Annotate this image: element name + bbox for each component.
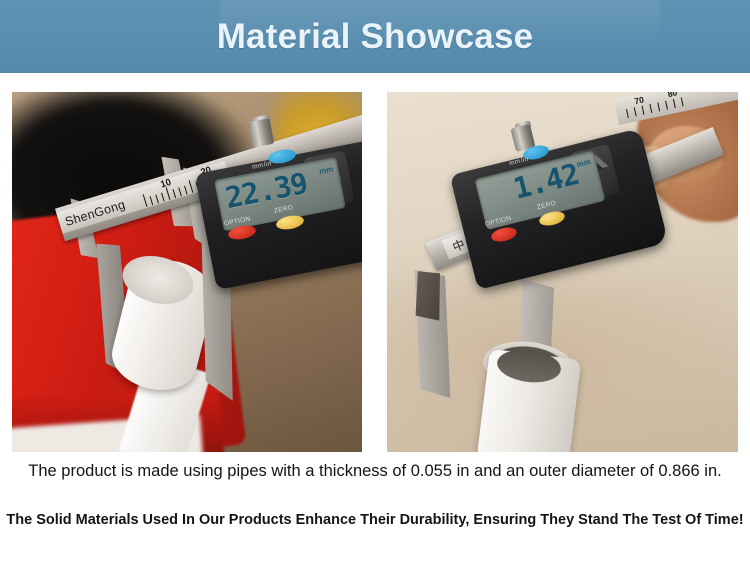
caption-primary: The product is made using pipes with a t… xyxy=(0,462,750,481)
product-photo-left[interactable]: ShenGong 10 20 xyxy=(12,92,362,452)
caliper-scale-number: 80 xyxy=(667,92,678,99)
header-banner: Material Showcase xyxy=(0,0,750,73)
caliper-scale-number: 70 xyxy=(633,94,644,106)
gallery: ShenGong 10 20 xyxy=(0,92,750,452)
caliper-lcd-unit: mm xyxy=(318,164,334,176)
caliper-wall-thickness-scene: 70 80 中☆工 1.42 mm xyxy=(387,92,738,452)
product-photo-right[interactable]: 70 80 中☆工 1.42 mm xyxy=(387,92,738,452)
caliper-lock-screw xyxy=(248,118,275,148)
caliper-outer-diameter-scene: ShenGong 10 20 xyxy=(12,92,362,452)
caliper-lcd-unit: mm xyxy=(576,157,592,169)
caliper-scale-number: 10 xyxy=(159,177,172,191)
page-title: Material Showcase xyxy=(217,19,534,54)
caption-secondary: The Solid Materials Used In Our Products… xyxy=(0,512,750,528)
